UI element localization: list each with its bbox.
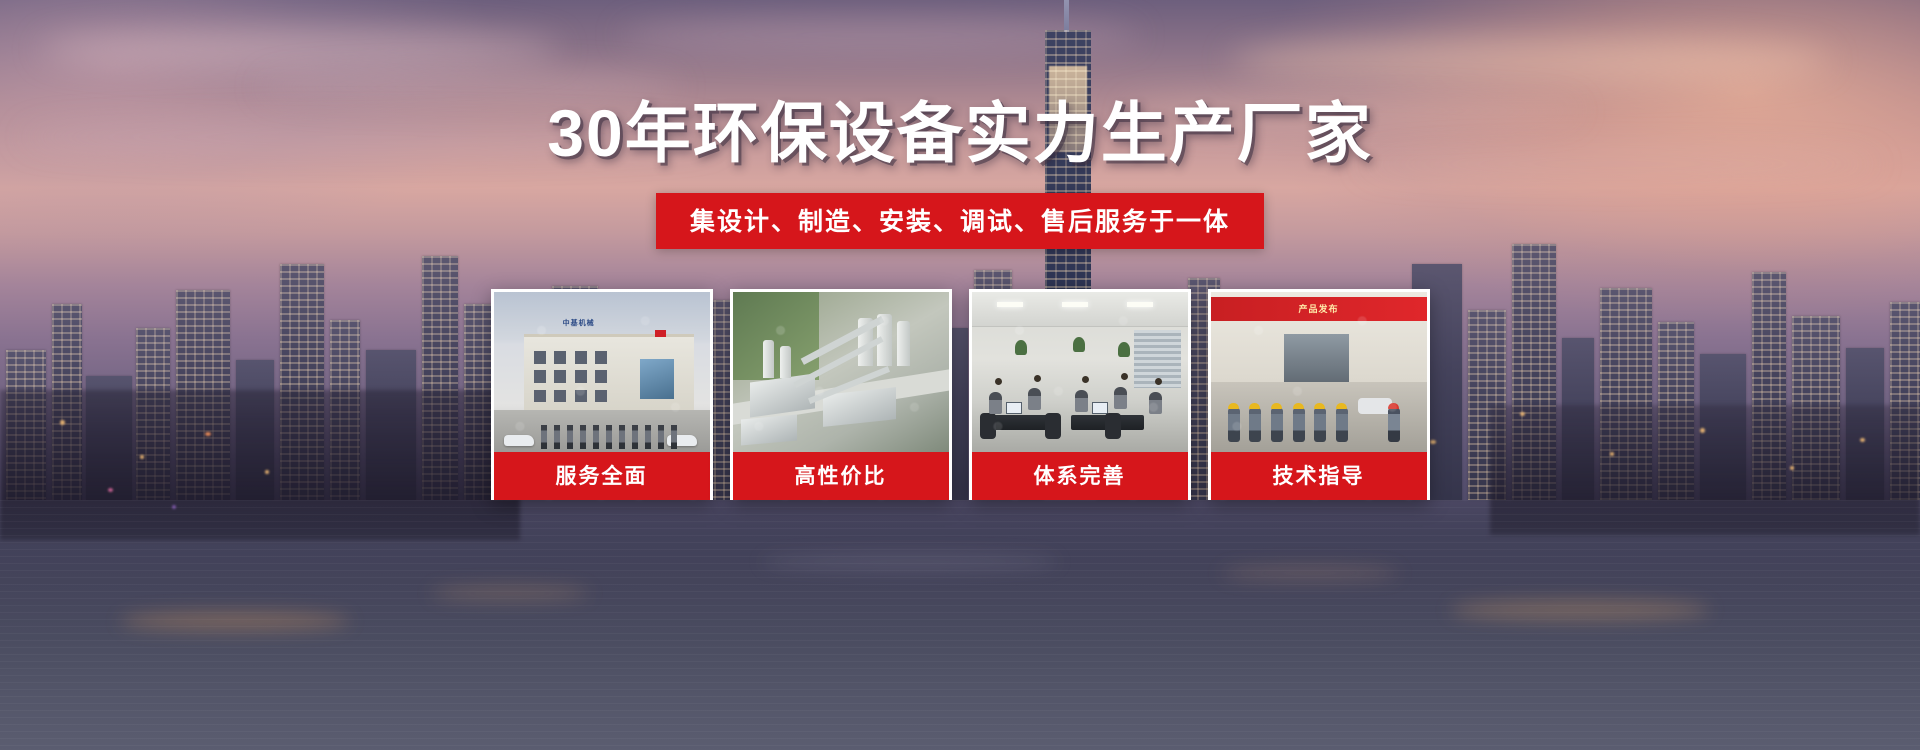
card-caption: 高性价比 — [733, 452, 949, 500]
feature-card[interactable]: 体系完善 — [969, 289, 1191, 500]
card-caption: 服务全面 — [494, 452, 710, 500]
card-photo-company-building: 中基机械 — [494, 292, 710, 452]
card-photo-workshop-workers: 产品发布 — [1211, 292, 1427, 452]
feature-card[interactable]: 中基机械 — [491, 289, 713, 500]
card-caption: 体系完善 — [972, 452, 1188, 500]
card-photo-production-plant — [733, 292, 949, 452]
subtitle-banner: 集设计、制造、安装、调试、售后服务于一体 — [656, 193, 1264, 249]
card-photo-office-meeting — [972, 292, 1188, 452]
hero-banner: 30年环保设备实力生产厂家 集设计、制造、安装、调试、售后服务于一体 — [0, 0, 1920, 750]
page-title: 30年环保设备实力生产厂家 — [547, 100, 1372, 166]
feature-card[interactable]: 产品发布 — [1208, 289, 1430, 500]
card-caption: 技术指导 — [1211, 452, 1427, 500]
building-sign-text: 中基机械 — [563, 318, 595, 328]
feature-card-list: 中基机械 — [491, 289, 1430, 500]
feature-card[interactable]: 高性价比 — [730, 289, 952, 500]
workshop-banner-text: 产品发布 — [1211, 297, 1427, 321]
